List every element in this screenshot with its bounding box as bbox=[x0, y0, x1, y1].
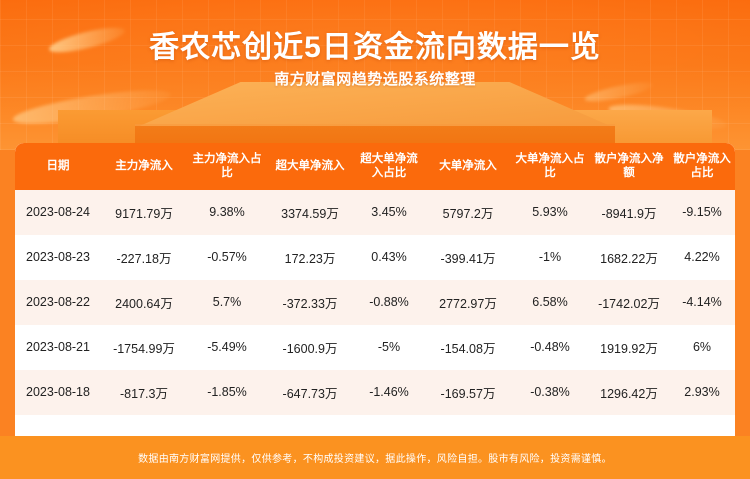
table-row: 2023-08-24 9171.79万 9.38% 3374.59万 3.45%… bbox=[15, 190, 735, 235]
table-header-row: 日期 主力净流入 主力净流入占比 超大单净流入 超大单净流入占比 大单净流入 大… bbox=[15, 143, 735, 190]
cell-lg-pct: 5.93% bbox=[511, 190, 589, 235]
cell-main-net: -227.18万 bbox=[101, 235, 187, 280]
table-row: 2023-08-23 -227.18万 -0.57% 172.23万 0.43%… bbox=[15, 235, 735, 280]
page-footer: 数据由南方财富网提供，仅供参考，不构成投资建议，据此操作，风险自担。股市有风险，… bbox=[0, 436, 750, 479]
page-subtitle: 南方财富网趋势选股系统整理 bbox=[0, 68, 750, 89]
disclaimer-text: 数据由南方财富网提供，仅供参考，不构成投资建议，据此操作，风险自担。股市有风险，… bbox=[138, 450, 612, 465]
data-table-card: 南方财富网 Southmoney.com 日期 主力净流入 主力净流入占比 超大… bbox=[15, 143, 735, 436]
column-header-main-net: 主力净流入 bbox=[101, 143, 187, 190]
column-header-retail-pct: 散户净流入占比 bbox=[669, 143, 735, 190]
cell-main-net: -1754.99万 bbox=[101, 325, 187, 370]
cell-retail-pct: 2.93% bbox=[669, 370, 735, 415]
cell-lg-net: 5797.2万 bbox=[425, 190, 511, 235]
cell-xl-net: -647.73万 bbox=[267, 370, 353, 415]
cell-date: 2023-08-18 bbox=[15, 370, 101, 415]
table-header: 日期 主力净流入 主力净流入占比 超大单净流入 超大单净流入占比 大单净流入 大… bbox=[15, 143, 735, 190]
cell-main-pct: 9.38% bbox=[187, 190, 267, 235]
cell-xl-net: -372.33万 bbox=[267, 280, 353, 325]
cell-retail-net: -1742.02万 bbox=[589, 280, 669, 325]
cell-xl-net: -1600.9万 bbox=[267, 325, 353, 370]
column-header-date: 日期 bbox=[15, 143, 101, 190]
cell-lg-pct: -0.48% bbox=[511, 325, 589, 370]
cell-retail-net: 1296.42万 bbox=[589, 370, 669, 415]
cell-xl-pct: -1.46% bbox=[353, 370, 425, 415]
cell-date: 2023-08-21 bbox=[15, 325, 101, 370]
cell-main-pct: 5.7% bbox=[187, 280, 267, 325]
table-row: 2023-08-21 -1754.99万 -5.49% -1600.9万 -5%… bbox=[15, 325, 735, 370]
cell-main-pct: -1.85% bbox=[187, 370, 267, 415]
column-header-lg-pct: 大单净流入占比 bbox=[511, 143, 589, 190]
cell-lg-net: 2772.97万 bbox=[425, 280, 511, 325]
cell-xl-pct: 3.45% bbox=[353, 190, 425, 235]
cell-lg-net: -154.08万 bbox=[425, 325, 511, 370]
cell-retail-net: -8941.9万 bbox=[589, 190, 669, 235]
column-header-main-pct: 主力净流入占比 bbox=[187, 143, 267, 190]
page-banner: 香农芯创近5日资金流向数据一览 南方财富网趋势选股系统整理 bbox=[0, 0, 750, 150]
cell-retail-net: 1682.22万 bbox=[589, 235, 669, 280]
cell-retail-pct: -9.15% bbox=[669, 190, 735, 235]
column-header-xl-pct: 超大单净流入占比 bbox=[353, 143, 425, 190]
page-title: 香农芯创近5日资金流向数据一览 bbox=[0, 22, 750, 66]
column-header-lg-net: 大单净流入 bbox=[425, 143, 511, 190]
cell-retail-pct: 4.22% bbox=[669, 235, 735, 280]
cell-xl-pct: -5% bbox=[353, 325, 425, 370]
cell-main-net: -817.3万 bbox=[101, 370, 187, 415]
cell-main-pct: -5.49% bbox=[187, 325, 267, 370]
cell-xl-pct: 0.43% bbox=[353, 235, 425, 280]
cell-xl-net: 3374.59万 bbox=[267, 190, 353, 235]
cell-xl-net: 172.23万 bbox=[267, 235, 353, 280]
cell-retail-pct: -4.14% bbox=[669, 280, 735, 325]
table-row: 2023-08-22 2400.64万 5.7% -372.33万 -0.88%… bbox=[15, 280, 735, 325]
fund-flow-table: 日期 主力净流入 主力净流入占比 超大单净流入 超大单净流入占比 大单净流入 大… bbox=[15, 143, 735, 415]
cell-date: 2023-08-23 bbox=[15, 235, 101, 280]
banner-podium-decoration bbox=[135, 82, 615, 150]
cell-main-net: 2400.64万 bbox=[101, 280, 187, 325]
cell-xl-pct: -0.88% bbox=[353, 280, 425, 325]
cell-retail-net: 1919.92万 bbox=[589, 325, 669, 370]
table-body: 2023-08-24 9171.79万 9.38% 3374.59万 3.45%… bbox=[15, 190, 735, 415]
cell-lg-pct: 6.58% bbox=[511, 280, 589, 325]
cell-main-pct: -0.57% bbox=[187, 235, 267, 280]
cell-main-net: 9171.79万 bbox=[101, 190, 187, 235]
column-header-retail-net: 散户净流入净额 bbox=[589, 143, 669, 190]
column-header-xl-net: 超大单净流入 bbox=[267, 143, 353, 190]
cell-lg-net: -169.57万 bbox=[425, 370, 511, 415]
cell-lg-pct: -1% bbox=[511, 235, 589, 280]
cell-date: 2023-08-24 bbox=[15, 190, 101, 235]
table-row: 2023-08-18 -817.3万 -1.85% -647.73万 -1.46… bbox=[15, 370, 735, 415]
cell-retail-pct: 6% bbox=[669, 325, 735, 370]
cell-date: 2023-08-22 bbox=[15, 280, 101, 325]
cell-lg-pct: -0.38% bbox=[511, 370, 589, 415]
cell-lg-net: -399.41万 bbox=[425, 235, 511, 280]
